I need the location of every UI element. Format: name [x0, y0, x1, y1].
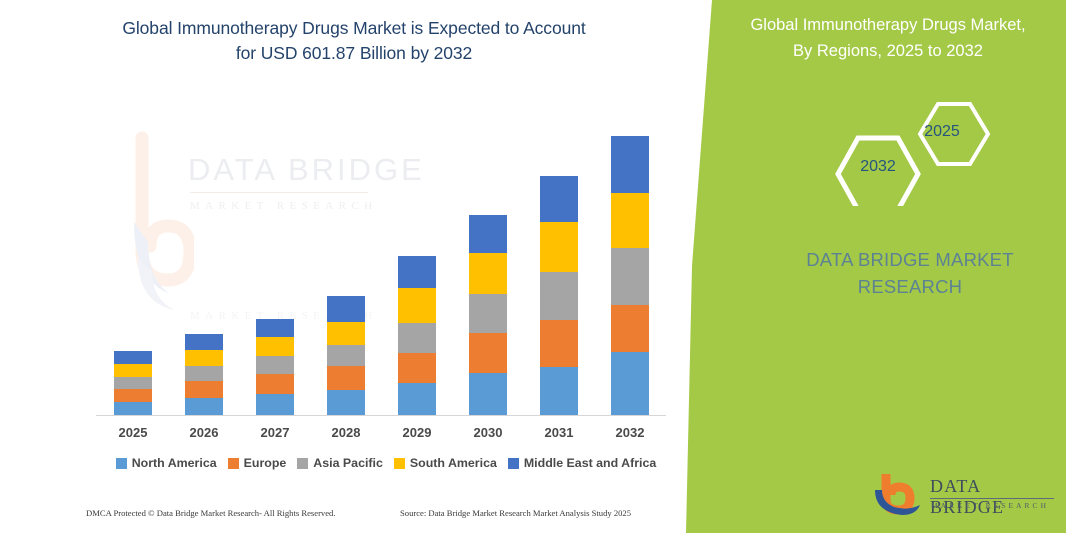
bar-segment[interactable]	[398, 288, 436, 323]
bar-segment[interactable]	[327, 345, 365, 366]
legend-swatch-icon	[116, 458, 127, 469]
bar-segment[interactable]	[185, 381, 223, 398]
bar-segment[interactable]	[256, 319, 294, 337]
bar-segment[interactable]	[256, 394, 294, 415]
bar-segment[interactable]	[327, 366, 365, 390]
bar-segment[interactable]	[540, 320, 578, 367]
chart-title-line-2: for USD 601.87 Billion by 2032	[40, 41, 668, 66]
infographic-root: Global Immunotherapy Drugs Market is Exp…	[0, 0, 1066, 533]
bar-segment[interactable]	[611, 305, 649, 352]
bar-segment[interactable]	[327, 322, 365, 345]
legend-item-0[interactable]: North America	[116, 456, 217, 470]
hexagon-outline-icon	[820, 96, 1000, 206]
bar-stack-2030[interactable]	[469, 215, 507, 415]
bar-stack-2027[interactable]	[256, 319, 294, 415]
logo-divider	[930, 498, 1054, 499]
x-axis-label-2031: 2031	[529, 425, 589, 440]
right-title-line-1: Global Immunotherapy Drugs Market,	[718, 12, 1058, 38]
bar-segment[interactable]	[114, 377, 152, 389]
legend-label: Asia Pacific	[313, 456, 383, 470]
logo-title: DATA BRIDGE	[930, 476, 1058, 518]
footer-copyright: DMCA Protected © Data Bridge Market Rese…	[86, 508, 336, 518]
company-logo: DATA BRIDGE MARKET RESEARCH	[872, 472, 1058, 520]
legend-item-1[interactable]: Europe	[228, 456, 287, 470]
legend-swatch-icon	[508, 458, 519, 469]
brand-line-1: DATA BRIDGE MARKET	[760, 246, 1060, 273]
bar-segment[interactable]	[611, 136, 649, 193]
bar-segment[interactable]	[398, 323, 436, 353]
chart-legend: North AmericaEuropeAsia PacificSouth Ame…	[96, 456, 676, 470]
bar-segment[interactable]	[540, 222, 578, 272]
legend-label: North America	[132, 456, 217, 470]
bar-segment[interactable]	[185, 398, 223, 415]
bar-segment[interactable]	[114, 364, 152, 377]
x-axis-label-2030: 2030	[458, 425, 518, 440]
x-axis-label-2029: 2029	[387, 425, 447, 440]
bar-segment[interactable]	[398, 353, 436, 383]
chart-title-line-1: Global Immunotherapy Drugs Market is Exp…	[40, 16, 668, 41]
legend-item-2[interactable]: Asia Pacific	[297, 456, 383, 470]
bar-segment[interactable]	[256, 337, 294, 356]
bar-segment[interactable]	[256, 356, 294, 374]
stacked-bar-chart	[96, 120, 666, 416]
bar-segment[interactable]	[540, 272, 578, 320]
chart-panel: Global Immunotherapy Drugs Market is Exp…	[0, 0, 706, 533]
bar-segment[interactable]	[185, 366, 223, 381]
x-axis-line	[96, 415, 666, 416]
bar-segment[interactable]	[540, 367, 578, 415]
legend-item-4[interactable]: Middle East and Africa	[508, 456, 656, 470]
bar-segment[interactable]	[114, 389, 152, 402]
bar-segment[interactable]	[469, 373, 507, 415]
legend-item-3[interactable]: South America	[394, 456, 497, 470]
hexagon-badges: 2032 2025	[820, 96, 1000, 206]
bar-segment[interactable]	[611, 193, 649, 248]
data-bridge-b-logo-icon	[872, 472, 926, 516]
hexagon-label-start-year: 2032	[848, 158, 908, 176]
bar-segment[interactable]	[398, 383, 436, 415]
legend-swatch-icon	[228, 458, 239, 469]
bar-stack-2032[interactable]	[611, 136, 649, 415]
bar-segment[interactable]	[540, 176, 578, 222]
right-panel-title: Global Immunotherapy Drugs Market, By Re…	[718, 12, 1058, 64]
x-axis-label-2032: 2032	[600, 425, 660, 440]
bar-segment[interactable]	[611, 248, 649, 305]
logo-subtitle: MARKET RESEARCH	[931, 501, 1049, 510]
bar-segment[interactable]	[398, 256, 436, 288]
right-title-line-2: By Regions, 2025 to 2032	[718, 38, 1058, 64]
bar-segment[interactable]	[327, 390, 365, 415]
legend-label: Europe	[244, 456, 287, 470]
hexagon-label-end-year: 2025	[912, 123, 972, 141]
bar-segment[interactable]	[469, 294, 507, 333]
bar-stack-2028[interactable]	[327, 296, 365, 415]
bar-segment[interactable]	[256, 374, 294, 394]
x-axis-label-2027: 2027	[245, 425, 305, 440]
bar-stack-2025[interactable]	[114, 351, 152, 415]
x-axis-labels: 20252026202720282029203020312032	[96, 425, 666, 447]
bar-segment[interactable]	[611, 352, 649, 415]
bar-segment[interactable]	[185, 334, 223, 350]
bar-stack-2026[interactable]	[185, 334, 223, 415]
bar-segment[interactable]	[114, 402, 152, 415]
bar-stack-2031[interactable]	[540, 176, 578, 415]
bar-segment[interactable]	[469, 215, 507, 253]
bar-segment[interactable]	[185, 350, 223, 366]
x-axis-label-2026: 2026	[174, 425, 234, 440]
bar-stack-2029[interactable]	[398, 256, 436, 415]
page-title: Global Immunotherapy Drugs Market is Exp…	[40, 16, 668, 66]
brand-name: DATA BRIDGE MARKET RESEARCH	[760, 246, 1060, 300]
bar-segment[interactable]	[469, 333, 507, 373]
legend-label: Middle East and Africa	[524, 456, 656, 470]
legend-swatch-icon	[394, 458, 405, 469]
bar-segment[interactable]	[469, 253, 507, 294]
bar-segment[interactable]	[114, 351, 152, 364]
legend-swatch-icon	[297, 458, 308, 469]
brand-line-2: RESEARCH	[760, 273, 1060, 300]
x-axis-label-2028: 2028	[316, 425, 376, 440]
bar-segment[interactable]	[327, 296, 365, 322]
legend-label: South America	[410, 456, 497, 470]
footer-source: Source: Data Bridge Market Research Mark…	[400, 508, 631, 518]
x-axis-label-2025: 2025	[103, 425, 163, 440]
